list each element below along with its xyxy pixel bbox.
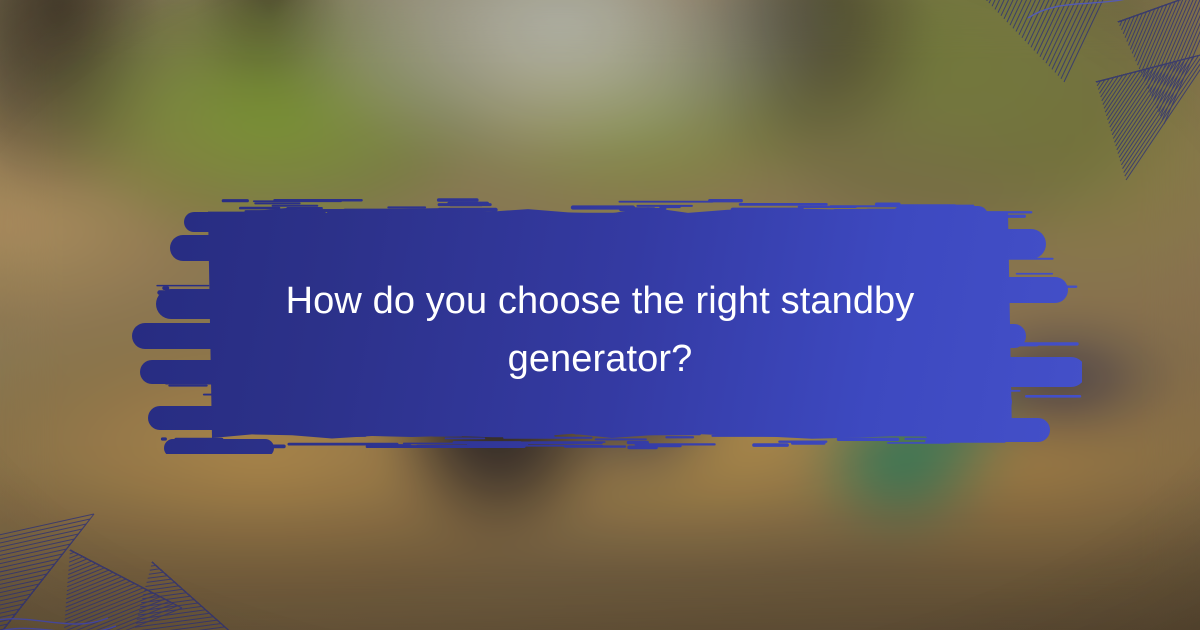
page-title: How do you choose the right standby gene… (0, 272, 1200, 388)
geometric-line-art-top-right-icon (968, 0, 1200, 189)
geometric-line-art-bottom-left-icon (0, 430, 246, 630)
page-title-line-1: How do you choose the right standby (180, 272, 1020, 330)
page-title-line-2: generator? (180, 330, 1020, 388)
title-card: How do you choose the right standby gene… (0, 0, 1200, 630)
